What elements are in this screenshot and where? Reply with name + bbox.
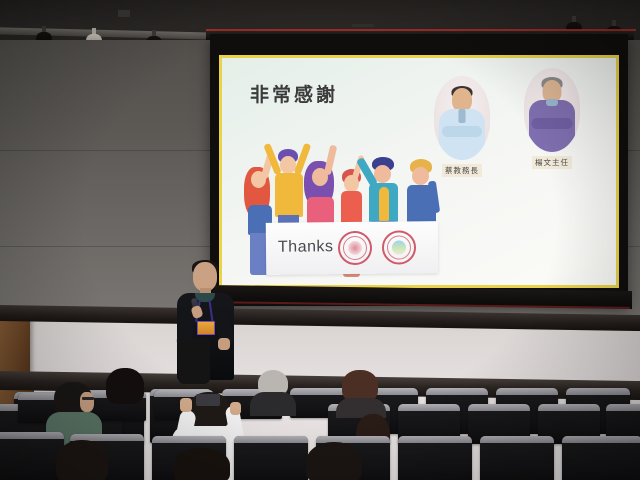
attendee-hair xyxy=(106,368,144,404)
thanks-text: Thanks xyxy=(278,238,334,257)
red-accent-line xyxy=(206,29,636,31)
attendee-hair xyxy=(306,442,362,480)
seat xyxy=(0,432,64,480)
university-crest-icon xyxy=(338,231,372,265)
portrait-card: 楊文主任 xyxy=(524,68,580,170)
attendee-torso xyxy=(178,338,210,384)
attendee-hand xyxy=(230,402,241,415)
university-crest-icon xyxy=(382,230,416,264)
attendee-torso xyxy=(250,392,296,416)
collar xyxy=(546,99,558,106)
seat xyxy=(480,436,554,480)
thanks-banner: Thanks xyxy=(266,221,439,275)
attendee-face xyxy=(80,392,94,412)
glasses-icon xyxy=(82,397,94,400)
attendee xyxy=(178,338,210,384)
presenter-hand-right xyxy=(218,338,230,350)
smartphone-icon xyxy=(196,394,220,406)
name-badge xyxy=(197,321,215,335)
crossed-arms xyxy=(442,126,482,137)
presentation-slide: 非常感謝 蔡教務長 楊文主任 xyxy=(219,55,619,288)
presenter-face xyxy=(193,262,217,291)
seat xyxy=(398,436,472,480)
collar xyxy=(459,109,466,123)
attendee-hand xyxy=(180,398,192,412)
seat xyxy=(234,436,308,480)
portrait-photo xyxy=(524,68,580,152)
portrait-name-label: 楊文主任 xyxy=(532,156,572,169)
auditorium-photo: 國立臺中科技大學教學卓越計畫 研討會 非常感謝 蔡教務長 xyxy=(0,0,640,480)
attendee-hair xyxy=(56,440,108,480)
crossed-arms xyxy=(532,118,573,129)
celebration-illustration: Thanks xyxy=(240,143,455,283)
ceiling-vent xyxy=(118,10,130,17)
ceiling-vent xyxy=(352,24,374,27)
seat xyxy=(562,436,640,480)
slide-title: 非常感謝 xyxy=(250,80,338,107)
attendee-hair xyxy=(174,448,230,480)
